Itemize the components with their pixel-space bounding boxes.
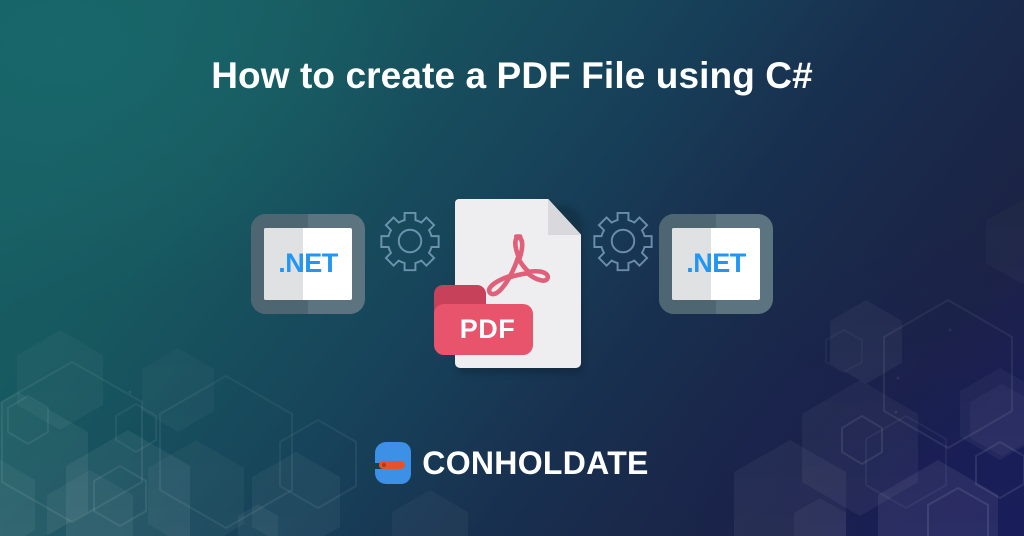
banner-canvas: How to create a PDF File using C# .NET — [0, 0, 1024, 536]
illustration-row: .NET PDF — [0, 188, 1024, 384]
dotnet-right-screen: .NET — [672, 228, 760, 300]
conholdate-logo-text: CONHOLDATE — [422, 447, 648, 479]
gear-icon-right — [592, 210, 654, 272]
pdf-document-icon: PDF — [455, 199, 581, 368]
conholdate-logo: CONHOLDATE — [0, 442, 1024, 484]
dotnet-icon-left: .NET — [251, 214, 365, 314]
gear-icon-left — [379, 210, 441, 272]
dotnet-right-label: .NET — [672, 228, 760, 300]
acrobat-a-icon — [482, 231, 558, 301]
pdf-badge-label: PDF — [452, 314, 516, 345]
page-title: How to create a PDF File using C# — [0, 54, 1024, 98]
dotnet-left-screen: .NET — [264, 228, 352, 300]
pdf-badge: PDF — [434, 304, 533, 355]
dotnet-left-label: .NET — [264, 228, 352, 300]
conholdate-logo-mark — [375, 442, 411, 484]
dotnet-icon-right: .NET — [659, 214, 773, 314]
